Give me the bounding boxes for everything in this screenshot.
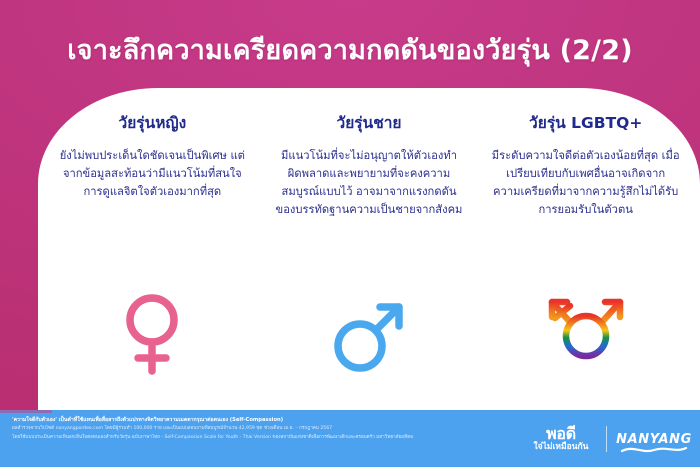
footnote-line-2: ผลสำรวจจากเว็บไซต์ nanyangpordee.com โดย… xyxy=(12,425,494,434)
pordee-logo-main: พอดี xyxy=(546,426,576,442)
white-content-card: วัยรุ่นหญิง ยังไม่พบประเด็นใดชัดเจนเป็นพ… xyxy=(38,88,700,410)
infographic-root: เจาะลึกความเครียดความกดดันของวัยรุ่น (2/… xyxy=(0,0,700,467)
pordee-logo-sub: ใจ่ไม่เหมือนกัน xyxy=(534,443,589,452)
column-female-heading: วัยรุ่นหญิง xyxy=(118,110,186,135)
page-title: เจาะลึกความเครียดความกดดันของวัยรุ่น (2/… xyxy=(0,34,700,68)
column-lgbtq: วัยรุ่น LGBTQ+ มีระดับความใจดีต่อตัวเองน… xyxy=(477,110,694,410)
columns-container: วัยรุ่นหญิง ยังไม่พบประเด็นใดชัดเจนเป็นพ… xyxy=(38,88,700,410)
column-female: วัยรุ่นหญิง ยังไม่พบประเด็นใดชัดเจนเป็นพ… xyxy=(44,110,261,410)
footnote-line-1: 'ความใจดีกับตัวเอง' เป็นคำที่ใช้แทนเพื่อ… xyxy=(12,415,494,425)
nanyang-swoosh-icon xyxy=(620,445,688,455)
footnotes: 'ความใจดีกับตัวเอง' เป็นคำที่ใช้แทนเพื่อ… xyxy=(12,415,494,443)
column-female-body: ยังไม่พบประเด็นใดชัดเจนเป็นพิเศษ แต่จากข… xyxy=(58,147,246,201)
footer-bar: 'ความใจดีกับตัวเอง' เป็นคำที่ใช้แทนเพื่อ… xyxy=(0,410,700,467)
column-male-body: มีแนวโน้มที่จะไม่อนุญาตให้ตัวเองทำผิดพลา… xyxy=(275,147,463,220)
nanyang-logo[interactable]: NANYANG xyxy=(616,422,692,456)
column-male: วัยรุ่นชาย มีแนวโน้มที่จะไม่อนุญาตให้ตัว… xyxy=(261,110,478,410)
footer-logos: พอดี ใจ่ไม่เหมือนกัน NANYANG xyxy=(525,419,692,459)
transgender-rainbow-symbol xyxy=(540,292,632,376)
column-lgbtq-body: มีระดับความใจดีต่อตัวเองน้อยที่สุด เมื่อ… xyxy=(492,147,680,220)
pordee-logo[interactable]: พอดี ใจ่ไม่เหมือนกัน xyxy=(525,420,597,458)
footnote-line-3: โดยใช้แบบประเมินความเห็นอกเห็นใจต่อตนเอง… xyxy=(12,434,494,443)
logo-divider xyxy=(606,426,607,452)
footer-accent-bar xyxy=(0,410,52,413)
female-venus-symbol xyxy=(121,292,183,376)
male-mars-symbol xyxy=(332,292,406,376)
column-lgbtq-heading: วัยรุ่น LGBTQ+ xyxy=(529,110,642,135)
column-male-heading: วัยรุ่นชาย xyxy=(337,110,402,135)
